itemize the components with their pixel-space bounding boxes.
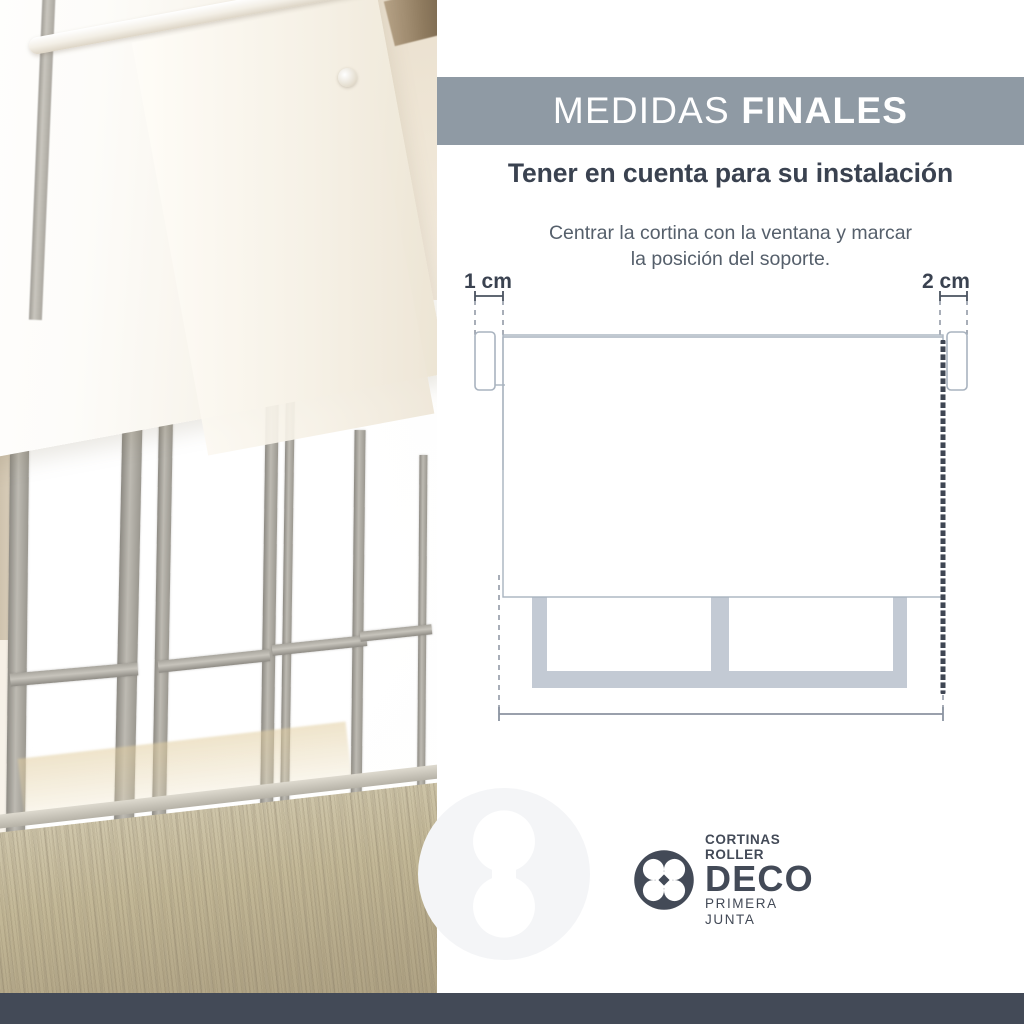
photo-roller-end-cap — [338, 68, 357, 87]
logo-bottom-text: PRIMERA JUNTA — [705, 896, 829, 928]
footer-bar — [0, 993, 1024, 1024]
clover-circle-icon — [633, 849, 695, 911]
support-bracket-left — [475, 332, 505, 470]
brand-logo: CORTINAS ROLLER DECO PRIMERA JUNTA — [633, 845, 829, 915]
window-frame — [532, 593, 907, 688]
total-width-dimension-line — [499, 707, 943, 721]
logo-watermark-icon — [418, 788, 590, 960]
infographic-canvas: MEDIDAS FINALES Tener en cuenta para su … — [0, 0, 1024, 1024]
dimension-bar-left — [475, 291, 503, 301]
installation-diagram — [437, 0, 1024, 760]
logo-brand-text: DECO — [705, 862, 829, 896]
product-photo — [0, 0, 437, 993]
logo-wordmark: CORTINAS ROLLER DECO PRIMERA JUNTA — [705, 832, 829, 928]
support-bracket-right — [947, 332, 967, 390]
dimension-bar-right — [940, 291, 967, 301]
roller-fabric — [503, 335, 943, 597]
